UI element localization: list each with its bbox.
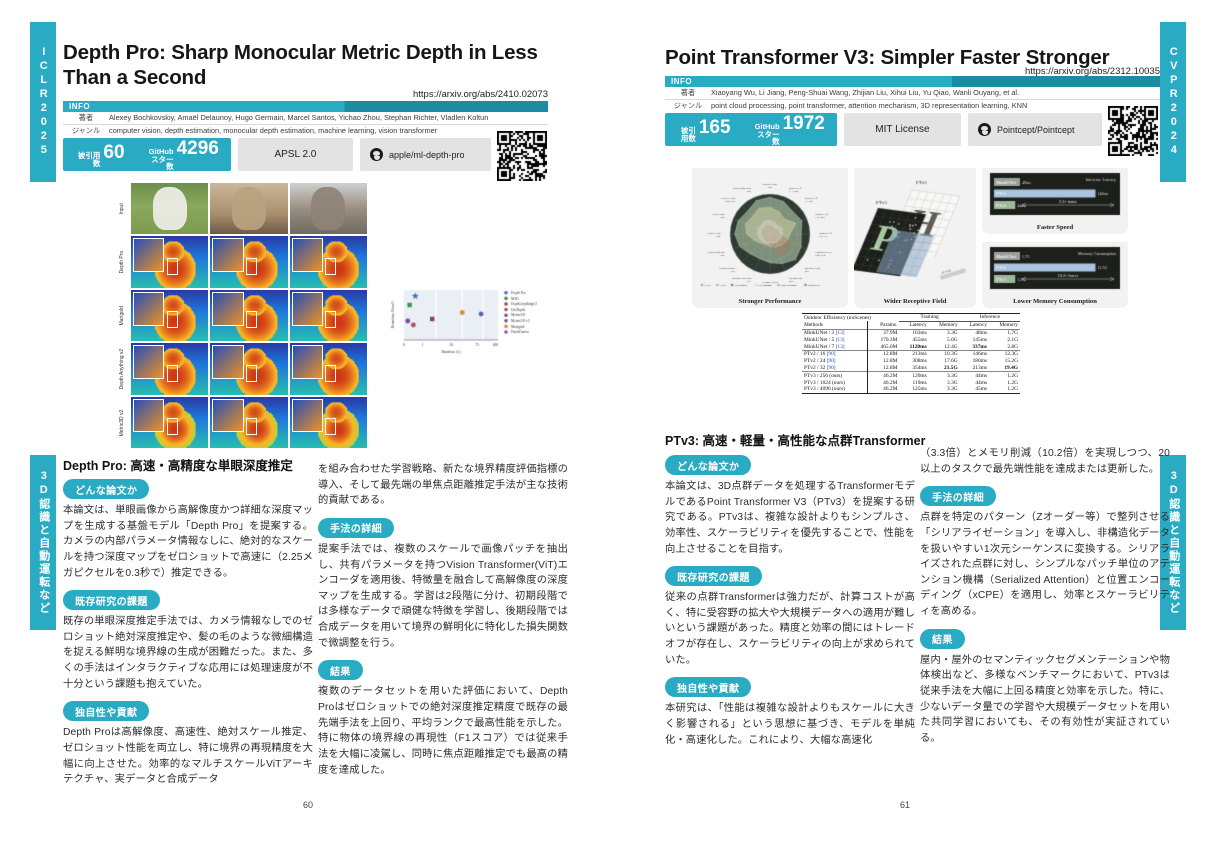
license-chip-right: MIT License [844,113,961,146]
figure-inset [292,292,323,326]
figure-crop-box [246,418,257,435]
stars-label-left: GitHub スター数 [149,148,174,172]
repo-chip-left[interactable]: apple/ml-depth-pro [360,138,491,171]
genre-label-left: ジャンル [63,126,109,136]
figure-inset [212,292,243,326]
panel-caption-1: Stronger Performance [692,298,848,305]
info-row-genre-left: ジャンル computer vision, depth estimation, … [63,125,548,137]
panel-wider-receptive-field: Wider Receptive Field [854,168,976,308]
figure-runtime-scatter [382,272,558,360]
panel-caption-3: Faster Speed [982,224,1128,231]
figure-inset [133,238,164,272]
info-row-authors-left: 著者 Alexey Bochkovskiy, Amaël Delaunoy, H… [63,112,548,125]
figure-crop-box [167,258,178,275]
figure-row-label: Input [115,183,129,234]
figure-cell [131,397,208,448]
citations-label-left: 被引用数 [75,152,100,168]
panel-faster-speed: Faster Speed [982,168,1128,234]
arxiv-url-left[interactable]: https://arxiv.org/abs/2410.02073 [303,89,548,100]
citations-value-right: 165 [699,117,731,139]
panel-caption-2: Wider Receptive Field [854,298,976,305]
section-body: 本研究は、「性能は複雑な設計よりもスケールに大きく影響される」という思想に基づき… [665,701,915,748]
summary-column-left-1: どんな論文か本論文は、単眼画像から高解像度かつ詳細な深度マップを生成する基盤モデ… [63,470,313,788]
license-chip-left: APSL 2.0 [238,138,353,171]
info-band-left: INFO 著者 Alexey Bochkovskiy, Amaël Delaun… [63,101,548,137]
section-heading: 手法の詳細 [920,486,996,506]
page-number-right: 61 [900,800,910,810]
section-heading: 独自性や貢献 [665,677,751,697]
repo-label-left: apple/ml-depth-pro [389,150,465,160]
genre-value-left: computer vision, depth estimation, monoc… [109,126,548,136]
category-tab-left: 3D認識と自動運転など [30,455,56,630]
figure-crop-box [167,418,178,435]
genre-value-right: point cloud processing, point transforme… [711,101,1160,111]
figure-inset [292,345,323,379]
figure-cell [131,183,208,234]
figure-inset [212,238,243,272]
panel-lower-memory: Lower Memory Consumption [982,242,1128,308]
figure-crop-box [246,365,257,382]
figure-row-label: Depth Pro [115,236,129,287]
conference-tab-left-label: ICLR2025 [37,46,49,158]
github-icon-right [978,123,991,136]
citations-label-right: 被引用数 [677,127,696,143]
section-body: を組み合わせた学習戦略、新たな境界精度評価指標の導入、そして最先端の単焦点距離推… [318,462,568,509]
figure-inset [212,345,243,379]
section-body: 点群を特定のパターン（Zオーダー等）で整列させる「シリアライゼーション」を導入し… [920,510,1170,619]
summary-column-left-2: を組み合わせた学習戦略、新たな境界精度評価指標の導入、そして最先端の単焦点距離推… [318,462,568,778]
page-title-left: Depth Pro: Sharp Monocular Metric Depth … [63,40,543,90]
info-row-genre-right: ジャンル point cloud processing, point trans… [665,100,1160,112]
figure-row-label: Depth Anything v2 [115,343,129,394]
info-header-right: INFO [665,76,1160,87]
conference-tab-left: ICLR2025 [30,22,56,182]
metrics-strip-left: 被引用数 60 GitHub スター数 4296 APSL 2.0 apple/… [63,138,491,171]
stars-value-right: 1972 [783,113,825,135]
category-tab-left-label: 3D認識と自動運転など [37,470,49,615]
stars-metric-right: GitHub スター数 1972 [743,113,837,147]
info-header-left: INFO [63,101,548,112]
section-heading: 独自性や貢献 [63,701,149,721]
figure-crop-box [325,418,336,435]
section-heading: どんな論文か [63,479,149,499]
authors-label-left: 著者 [63,113,109,123]
figure-inset [133,345,164,379]
figure-crop-box [246,311,257,328]
citations-metric-left: 被引用数 60 [63,142,137,168]
metrics-chip-right: 被引用数 165 GitHub スター数 1972 [665,113,837,146]
authors-label-right: 著者 [665,88,711,98]
section-body: 従来の点群Transformerは強力だが、計算コストが高く、特に受容野の拡大や… [665,590,915,668]
figure-crop-box [246,258,257,275]
summary-column-right-1: どんな論文か本論文は、3D点群データを処理するTransformerモデルである… [665,446,915,748]
section-body: 本論文は、単眼画像から高解像度かつ詳細な深度マップを生成する基盤モデル「Dept… [63,503,313,581]
info-band-right: INFO 著者 Xiaoyang Wu, Li Jiang, Peng-Shua… [665,76,1160,112]
section-body: 既存の単眼深度推定手法では、カメラ情報なしでのゼロショット絶対深度推定や、髪の毛… [63,614,313,692]
section-body: 本論文は、3D点群データを処理するTransformerモデルであるPoint … [665,479,915,557]
figure-inset [212,399,243,433]
figure-cell [290,236,367,287]
section-heading: どんな論文か [665,455,751,475]
section-body: （3.3倍）とメモリ削減（10.2倍）を実現しつつ、20以上のタスクで最先端性能… [920,446,1170,477]
figure-cell [290,397,367,448]
results-table: Outdoor Efficiency (nuScenes)TrainingInf… [802,313,1020,394]
figure-inset [292,399,323,433]
metrics-strip-right: 被引用数 165 GitHub スター数 1972 MIT License Po… [665,113,1102,146]
stars-label-right: GitHub スター数 [755,123,780,147]
section-heading: 既存研究の課題 [665,566,762,586]
conference-tab-right-label: CVPR2024 [1167,46,1179,158]
section-body: Depth Proは高解像度、高速性、絶対スケール推定、ゼロショット性能を両立し… [63,725,313,788]
figure-cell [210,397,287,448]
summary-column-right-2: （3.3倍）とメモリ削減（10.2倍）を実現しつつ、20以上のタスクで最先端性能… [920,446,1170,747]
panel-stronger-performance: Stronger Performance [692,168,848,308]
repo-label-right: Pointcept/Pointcept [997,125,1075,135]
stars-metric-left: GitHub スター数 4296 [137,138,231,172]
section-heading: 結果 [920,629,965,649]
qr-code-left[interactable] [497,131,547,181]
figure-inset [133,292,164,326]
qr-code-right[interactable] [1108,106,1158,156]
figure-cell [210,290,287,341]
figure-crop-box [325,258,336,275]
figure-crop-box [325,365,336,382]
figure-crop-box [167,311,178,328]
metrics-chip-left: 被引用数 60 GitHub スター数 4296 [63,138,231,171]
page-number-left: 60 [303,800,313,810]
section-heading: 既存研究の課題 [63,590,160,610]
figure-crop-box [325,311,336,328]
citations-metric-right: 被引用数 165 [665,117,743,143]
section-body: 提案手法では、複数のスケールで画像パッチを抽出し、共有パラメータを持つVisio… [318,542,568,651]
figure-cell [131,290,208,341]
figure-cell [131,236,208,287]
figure-row-label: Marigold [115,290,129,341]
figure-inset [292,238,323,272]
figure-cell [290,183,367,234]
panel-caption-4: Lower Memory Consumption [982,298,1128,305]
figure-cell [131,343,208,394]
authors-value-right: Xiaoyang Wu, Li Jiang, Peng-Shuai Wang, … [711,88,1160,98]
section-body: 複数のデータセットを用いた評価において、Depth Proはゼロショットでの絶対… [318,684,568,778]
figure-depth-pro-grid: InputDepth ProMarigoldDepth Anything v2M… [115,183,367,448]
figure-cell [210,236,287,287]
figure-crop-box [167,365,178,382]
section-body: 屋内・屋外のセマンティックセグメンテーションや物体検出など、多様なベンチマークに… [920,653,1170,747]
github-icon-left [370,148,383,161]
citations-value-left: 60 [103,142,124,164]
section-heading: 結果 [318,660,363,680]
figure-cell [290,343,367,394]
section-heading: 手法の詳細 [318,518,394,538]
figure-cell [210,343,287,394]
info-row-authors-right: 著者 Xiaoyang Wu, Li Jiang, Peng-Shuai Wan… [665,87,1160,100]
figure-row-label: Metric3D v2 [115,397,129,448]
genre-label-right: ジャンル [665,101,711,111]
figure-inset [133,399,164,433]
repo-chip-right[interactable]: Pointcept/Pointcept [968,113,1102,146]
figure-cell [210,183,287,234]
authors-value-left: Alexey Bochkovskiy, Amaël Delaunoy, Hugo… [109,113,548,123]
figure-cell [290,290,367,341]
stars-value-left: 4296 [177,138,219,160]
